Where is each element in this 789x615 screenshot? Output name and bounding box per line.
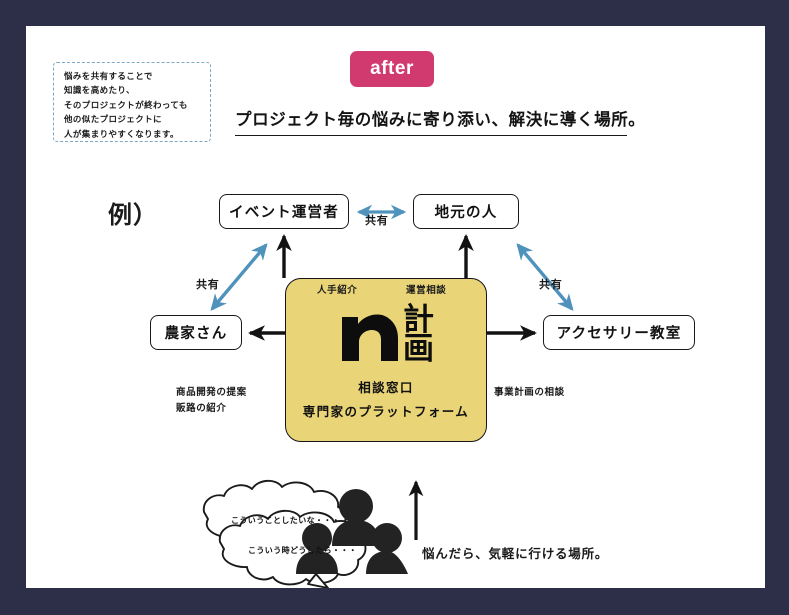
edge-label-farmer-2: 販路の紹介 bbox=[176, 400, 227, 414]
edge-label-farmer-1: 商品開発の提案 bbox=[176, 384, 247, 398]
slide-frame: 悩みを共有することで 知識を高めたり、 そのプロジェクトが終わっても 他の似たプ… bbox=[0, 0, 789, 615]
node-accessory-class: アクセサリー教室 bbox=[543, 315, 695, 350]
note-line: 他の似たプロジェクトに bbox=[64, 112, 202, 126]
edge-label-share-top: 共有 bbox=[365, 212, 389, 228]
edge-label-accessory: 事業計画の相談 bbox=[494, 384, 565, 398]
edge-label-share-right: 共有 bbox=[539, 276, 563, 292]
note-line: 知識を高めたり、 bbox=[64, 83, 202, 97]
person-icon-right bbox=[366, 523, 408, 574]
platform-logo: 計 画 bbox=[286, 301, 486, 369]
edge-label-unei: 運営相談 bbox=[406, 282, 446, 296]
note-callout-box: 悩みを共有することで 知識を高めたり、 そのプロジェクトが終わっても 他の似たプ… bbox=[53, 62, 211, 142]
platform-subtitle-1: 相談窓口 bbox=[286, 377, 486, 396]
edge-label-jinshu: 人手紹介 bbox=[317, 282, 357, 296]
logo-kanji-bottom: 画 bbox=[403, 335, 434, 364]
bottom-caption: 悩んだら、気軽に行ける場所。 bbox=[422, 543, 608, 562]
node-local-people: 地元の人 bbox=[413, 194, 519, 229]
bubble-text-2: こういう時どうしたら・・・ bbox=[248, 545, 357, 556]
node-event-organizer: イベント運営者 bbox=[219, 194, 349, 229]
after-badge: after bbox=[350, 51, 434, 87]
arrow-share-left bbox=[212, 245, 266, 309]
note-line: 悩みを共有することで bbox=[64, 69, 202, 83]
edge-label-share-left: 共有 bbox=[196, 276, 220, 292]
node-farmer: 農家さん bbox=[150, 315, 242, 350]
note-line: 人が集まりやすくなります。 bbox=[64, 127, 202, 141]
platform-subtitle-2: 専門家のプラットフォーム bbox=[286, 401, 486, 420]
example-label: 例） bbox=[108, 195, 158, 230]
note-line: そのプロジェクトが終わっても bbox=[64, 98, 202, 112]
slide-canvas: 悩みを共有することで 知識を高めたり、 そのプロジェクトが終わっても 他の似たプ… bbox=[26, 26, 765, 588]
platform-center-box: 計 画 相談窓口 専門家のプラットフォーム bbox=[285, 278, 487, 442]
logo-kanji: 計 画 bbox=[403, 306, 434, 364]
bubble-text-1: こういうことしたいな・・・ bbox=[231, 515, 340, 526]
page-title: プロジェクト毎の悩みに寄り添い、解決に導く場所。 bbox=[235, 106, 627, 136]
logo-n-mark bbox=[338, 307, 400, 363]
